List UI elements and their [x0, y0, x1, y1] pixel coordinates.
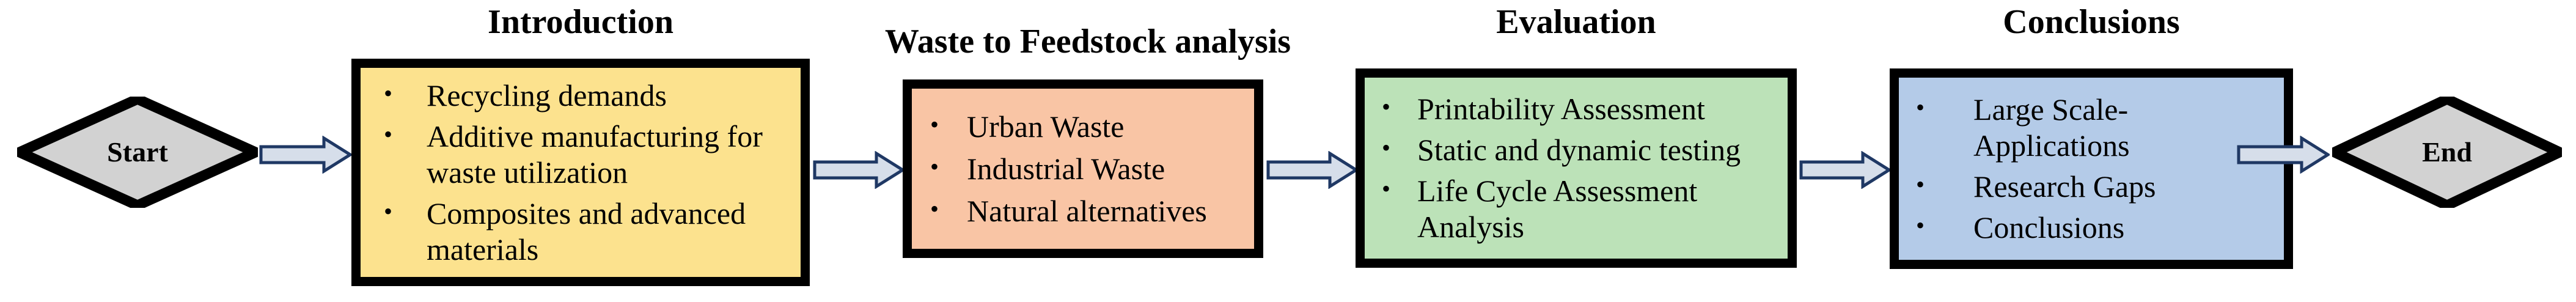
start-terminator[interactable]: Start	[17, 97, 258, 208]
end-terminator[interactable]: End	[2332, 97, 2562, 208]
stage-box-waste-to-feedstock-analysis[interactable]: • Urban Waste • Industrial Waste • Natur…	[903, 79, 1263, 258]
list-item: • Recycling demands	[384, 78, 787, 114]
bullet-dot-icon: •	[1916, 92, 1925, 123]
right-arrow-icon	[1266, 151, 1358, 189]
stage-title-conclusions: Conclusions	[1890, 5, 2293, 39]
list-item: • Life Cycle Assessment Analysis	[1382, 173, 1779, 245]
bullet-dot-icon: •	[1382, 91, 1390, 122]
bullet-list-introduction: • Recycling demands • Additive manufactu…	[361, 78, 801, 268]
stage-box-conclusions[interactable]: • Large Scale-Applications • Research Ga…	[1890, 68, 2293, 269]
connector-arrow-introduction-to-waste	[813, 151, 905, 189]
list-item: • Industrial Waste	[930, 151, 1246, 187]
right-arrow-icon	[813, 151, 905, 189]
start-label: Start	[107, 138, 168, 166]
bullet-dot-icon: •	[384, 78, 392, 109]
right-arrow-icon	[1799, 151, 1891, 189]
list-item: • Natural alternatives	[930, 193, 1246, 229]
bullet-dot-icon: •	[1916, 210, 1925, 241]
bullet-dot-icon: •	[930, 193, 939, 224]
list-item: • Static and dynamic testing	[1382, 132, 1779, 168]
list-item: • Printability Assessment	[1382, 91, 1779, 127]
bullet-dot-icon: •	[384, 119, 392, 150]
list-item: • Urban Waste	[930, 109, 1246, 145]
connector-arrow-evaluation-to-conclusions	[1799, 151, 1891, 189]
bullet-dot-icon: •	[930, 109, 939, 140]
connector-arrow-waste-to-evaluation	[1266, 151, 1358, 189]
connector-arrow-start-to-introduction	[259, 136, 352, 174]
bullet-list-conclusions: • Large Scale-Applications • Research Ga…	[1899, 92, 2284, 246]
list-item: • Additive manufacturing for waste utili…	[384, 119, 787, 191]
right-arrow-icon	[2237, 136, 2330, 174]
bullet-list-evaluation: • Printability Assessment • Static and d…	[1365, 91, 1788, 245]
bullet-dot-icon: •	[384, 196, 392, 227]
bullet-list-waste-to-feedstock: • Urban Waste • Industrial Waste • Natur…	[912, 109, 1254, 229]
stage-title-introduction: Introduction	[351, 5, 810, 39]
stage-box-introduction[interactable]: • Recycling demands • Additive manufactu…	[351, 59, 810, 286]
bullet-dot-icon: •	[1382, 132, 1390, 163]
stage-title-waste-to-feedstock-analysis: Waste to Feedstock analysis	[856, 24, 1320, 59]
stage-box-evaluation[interactable]: • Printability Assessment • Static and d…	[1356, 68, 1797, 268]
bullet-dot-icon: •	[1382, 173, 1390, 204]
list-item: • Research Gaps	[1916, 169, 2275, 205]
bullet-dot-icon: •	[1916, 169, 1925, 200]
list-item: • Large Scale-Applications	[1916, 92, 2275, 164]
end-label: End	[2422, 138, 2472, 166]
list-item: • Conclusions	[1916, 210, 2275, 246]
stage-title-evaluation: Evaluation	[1356, 5, 1797, 39]
right-arrow-icon	[259, 136, 352, 174]
flowchart-canvas: Introduction Waste to Feedstock analysis…	[0, 0, 2576, 302]
list-item: • Composites and advanced materials	[384, 196, 787, 268]
connector-arrow-conclusions-to-end	[2237, 136, 2330, 174]
bullet-dot-icon: •	[930, 151, 939, 182]
